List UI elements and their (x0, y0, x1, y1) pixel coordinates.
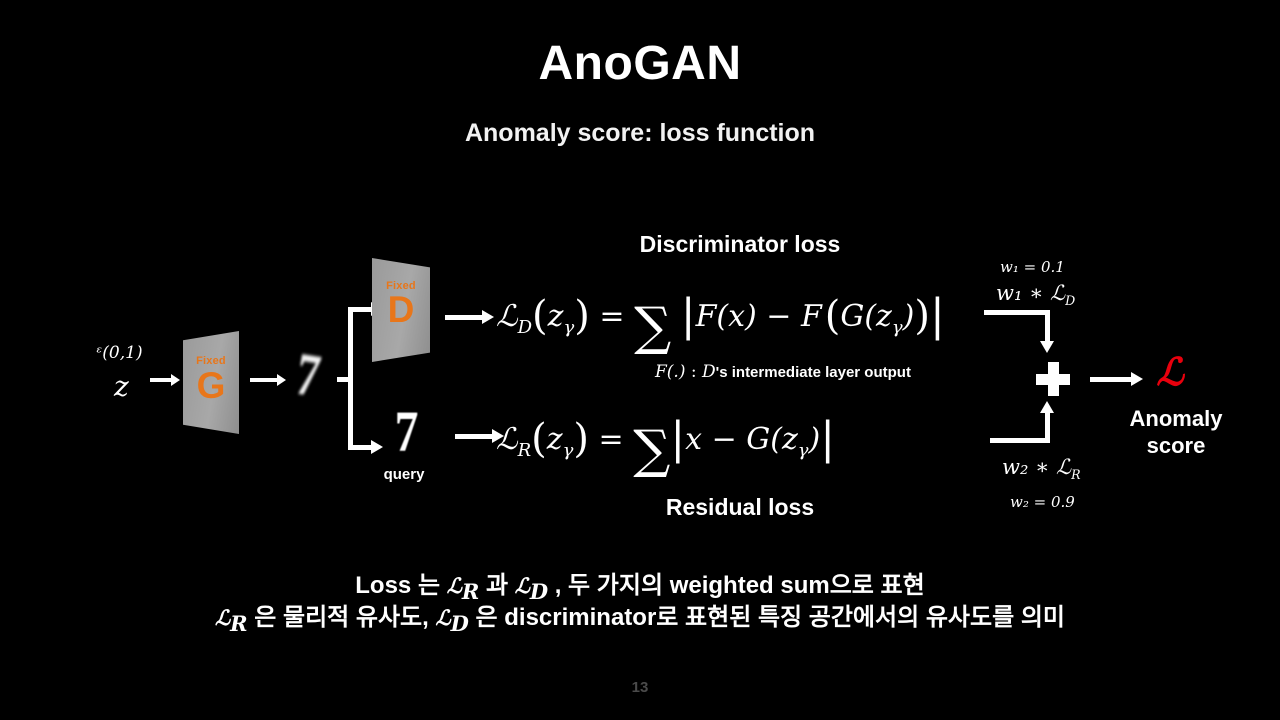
anomaly-score-caption: Anomaly score (1106, 406, 1246, 460)
footnote1-part1: Loss 는 (355, 572, 446, 599)
arrow-branch-to-discriminator (348, 307, 372, 312)
arrow-latent-to-generator (150, 378, 172, 382)
arrow-residual-term-into-sum (1045, 412, 1050, 443)
generated-sample-image: 7 (292, 344, 324, 407)
eq-d-sum-symbol: ∑ (634, 311, 671, 343)
page-title: AnoGAN (0, 36, 1280, 91)
footnote2-ld-subscript: D (451, 611, 469, 636)
discriminator-letter: D (372, 291, 430, 328)
latent-distribution-label: ᵋ(0,1) (95, 343, 143, 363)
residual-loss-heading: Residual loss (620, 494, 860, 521)
eq-d-inner-paren-open: ( (825, 293, 841, 339)
query-label: query (360, 466, 448, 483)
latent-variable-label: z (114, 370, 129, 403)
arrow-branch-to-residual (348, 445, 372, 450)
eq-d-lhs-subscript: D (518, 317, 532, 338)
eq-d-f-x: F(x) (696, 299, 757, 334)
eq-r-arg-subscript: γ (563, 440, 574, 461)
eq-r-g: G(z (746, 422, 797, 457)
eq-d-paren-open: ( (532, 293, 548, 339)
discriminator-block: Fixed D (372, 258, 430, 362)
eq-r-paren-open: ( (531, 416, 547, 462)
eq-r-lhs-subscript: R (518, 440, 532, 461)
footnote1-part2: 과 (479, 572, 514, 599)
footnote1-part3: , 두 가지의 weighted sum으로 표현 (548, 572, 925, 599)
footnote2-ld: ℒ (435, 605, 450, 630)
footnote2-lr-subscript: R (230, 611, 247, 636)
eq-d-g-close: ) (903, 299, 915, 334)
arrow-to-discriminator-equation (445, 315, 483, 320)
footnote2-lr: ℒ (215, 605, 230, 630)
eq-d-arg: z (548, 299, 564, 334)
eq-d-f: F (801, 299, 822, 334)
eq-d-abs-close: | (930, 290, 945, 341)
w1-expression-text: w₁ ∗ ℒ (996, 281, 1065, 305)
eq-d-g-subscript: γ (892, 317, 903, 338)
f-definition-note: F(.) : D's intermediate layer output (655, 362, 911, 382)
eq-r-g-subscript: γ (798, 440, 809, 461)
eq-r-abs-open: | (670, 413, 685, 464)
eq-r-lhs-symbol: ℒ (496, 422, 518, 457)
footnote1-lr: ℒ (447, 573, 462, 598)
w2-expression-subscript: R (1071, 467, 1080, 482)
eq-r-minus: − (702, 422, 746, 457)
arrow-discriminator-term-into-sum (1045, 310, 1050, 342)
anomaly-score-caption-line1: Anomaly (1106, 406, 1246, 433)
footnote2-part1: 은 물리적 유사도, (248, 604, 436, 631)
w1-value-label: w₁ = 0.1 (1000, 258, 1065, 276)
page-number: 13 (0, 679, 1280, 696)
branch-vertical (348, 307, 353, 450)
arrow-generator-to-sample (250, 378, 278, 382)
slide-canvas: AnoGAN Anomaly score: loss function Disc… (0, 0, 1280, 720)
w2-expression-text: w₂ ∗ ℒ (1002, 455, 1071, 479)
footnote-line-2: ℒR 은 물리적 유사도, ℒD 은 discriminator로 표현된 특징… (0, 597, 1280, 636)
arrow-to-residual-equation (455, 434, 493, 439)
plus-operator (1036, 362, 1070, 396)
eq-r-paren-close: ) (573, 416, 589, 462)
f-note-d-symbol: D (702, 362, 716, 382)
eq-r-x: x (685, 422, 702, 457)
eq-d-equals: = (599, 299, 634, 334)
arrow-sum-to-anomaly-score (1090, 377, 1132, 382)
discriminator-loss-equation: ℒD(zγ) = ∑ |F(x) − F (G(zγ))| (496, 286, 945, 338)
discriminator-loss-heading: Discriminator loss (600, 231, 880, 258)
elbow-top-horizontal (984, 310, 1050, 315)
eq-d-minus: − (757, 299, 801, 334)
residual-loss-equation: ℒR(zγ) = ∑|x − G(zγ)| (496, 409, 835, 461)
plus-horizontal-stroke (1036, 374, 1070, 385)
eq-d-paren-close: ) (574, 293, 590, 339)
eq-r-abs-close: | (820, 413, 835, 464)
eq-d-g: G(z (840, 299, 891, 334)
anomaly-score-symbol: ℒ (1140, 353, 1200, 391)
w2-expression-label: w₂ ∗ ℒR (1002, 455, 1081, 482)
f-note-symbol: F(.) (655, 362, 685, 382)
generator-letter: G (183, 367, 239, 404)
eq-d-arg-subscript: γ (563, 317, 574, 338)
footnote2-part2: 은 discriminator로 표현된 특징 공간에서의 유사도를 의미 (469, 604, 1065, 631)
footnote1-ld: ℒ (515, 573, 530, 598)
w1-expression-label: w₁ ∗ ℒD (996, 281, 1075, 308)
eq-r-sum-symbol: ∑ (633, 434, 670, 466)
anomaly-score-caption-line2: score (1106, 433, 1246, 460)
f-note-colon: : (685, 362, 702, 382)
eq-r-arg: z (547, 422, 563, 457)
generator-block: Fixed G (183, 331, 239, 434)
eq-d-lhs-symbol: ℒ (496, 299, 518, 334)
elbow-bottom-horizontal (990, 438, 1050, 443)
eq-r-equals: = (599, 422, 634, 457)
w2-value-label: w₂ = 0.9 (1010, 493, 1075, 511)
query-sample-image: 7 (395, 403, 419, 461)
page-subtitle: Anomaly score: loss function (0, 119, 1280, 148)
eq-r-g-close: ) (809, 422, 821, 457)
w1-expression-subscript: D (1065, 293, 1075, 308)
eq-d-abs-open: | (681, 290, 696, 341)
eq-d-inner-paren-close: ) (914, 293, 930, 339)
f-note-text: 's intermediate layer output (716, 364, 911, 381)
